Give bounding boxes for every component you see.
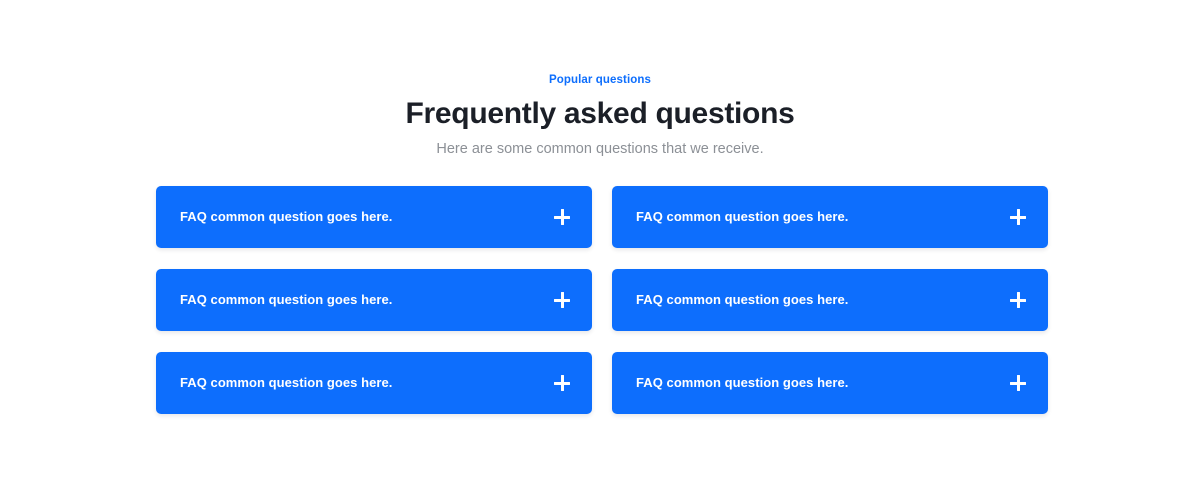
faq-list: FAQ common question goes here. FAQ commo…: [156, 186, 1044, 414]
plus-icon[interactable]: [554, 209, 570, 225]
page-subtitle: Here are some common questions that we r…: [0, 139, 1200, 160]
faq-item[interactable]: FAQ common question goes here.: [156, 186, 592, 248]
plus-icon[interactable]: [1010, 292, 1026, 308]
plus-icon[interactable]: [554, 292, 570, 308]
faq-item[interactable]: FAQ common question goes here.: [156, 352, 592, 414]
plus-icon[interactable]: [1010, 209, 1026, 225]
faq-question-label: FAQ common question goes here.: [180, 374, 392, 392]
faq-question-label: FAQ common question goes here.: [636, 208, 848, 226]
faq-question-label: FAQ common question goes here.: [180, 208, 392, 226]
faq-item[interactable]: FAQ common question goes here.: [612, 269, 1048, 331]
faq-item[interactable]: FAQ common question goes here.: [156, 269, 592, 331]
faq-item[interactable]: FAQ common question goes here.: [612, 352, 1048, 414]
faq-header: Popular questions Frequently asked quest…: [0, 0, 1200, 160]
section-eyebrow: Popular questions: [0, 72, 1200, 88]
faq-item[interactable]: FAQ common question goes here.: [612, 186, 1048, 248]
faq-question-label: FAQ common question goes here.: [180, 291, 392, 309]
plus-icon[interactable]: [554, 375, 570, 391]
plus-icon[interactable]: [1010, 375, 1026, 391]
faq-page: Popular questions Frequently asked quest…: [0, 0, 1200, 491]
faq-question-label: FAQ common question goes here.: [636, 374, 848, 392]
faq-question-label: FAQ common question goes here.: [636, 291, 848, 309]
page-title: Frequently asked questions: [0, 96, 1200, 132]
